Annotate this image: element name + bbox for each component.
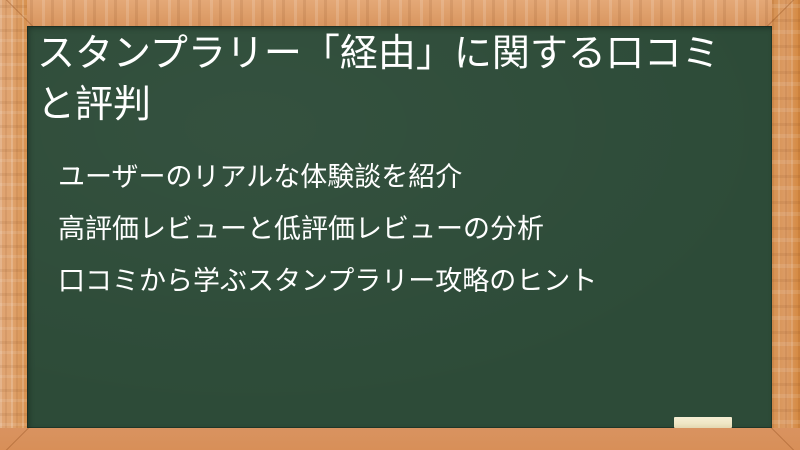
list-item: 高評価レビューと低評価レビューの分析 <box>58 204 758 256</box>
bullet-list: ユーザーのリアルな体験談を紹介 高評価レビューと低評価レビューの分析 口コミから… <box>58 152 758 308</box>
slide-title: スタンプラリー「経由」に関する口コミと評判 <box>37 28 757 129</box>
list-item: 口コミから学ぶスタンプラリー攻略のヒント <box>58 256 758 308</box>
chalkboard-content: スタンプラリー「経由」に関する口コミと評判 ユーザーのリアルな体験談を紹介 高評… <box>27 26 772 428</box>
chalk-stick-icon <box>674 417 732 428</box>
frame-bottom <box>0 428 800 450</box>
chalkboard-surface: スタンプラリー「経由」に関する口コミと評判 ユーザーのリアルな体験談を紹介 高評… <box>27 26 772 428</box>
frame-top <box>0 0 800 27</box>
list-item: ユーザーのリアルな体験談を紹介 <box>58 152 758 204</box>
frame-right <box>772 0 800 450</box>
frame-left <box>0 0 27 450</box>
chalkboard-slide: スタンプラリー「経由」に関する口コミと評判 ユーザーのリアルな体験談を紹介 高評… <box>0 0 800 450</box>
